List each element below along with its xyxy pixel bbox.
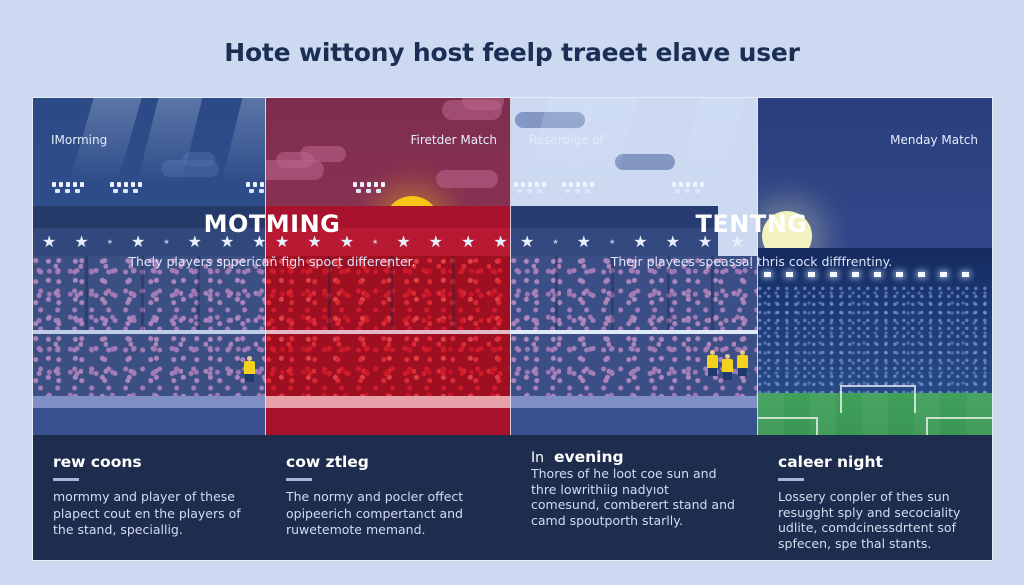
panel-afternoon[interactable]: ★ ★ ★ ★ ★ ★ ★ ★ ★ F — [266, 98, 511, 560]
floodlight-icon — [245, 182, 266, 195]
steward-figure — [707, 350, 718, 376]
star-icon: ★ — [220, 234, 234, 250]
star-icon: ★ — [493, 234, 507, 250]
stand-divider — [141, 256, 144, 330]
floodlight-icon — [513, 182, 547, 195]
star-icon: ★ — [163, 239, 169, 246]
panel-evening[interactable]: ★ ★ ★ ★ ★ ★ ★ ★ — [511, 98, 758, 560]
star-icon: ★ — [275, 234, 289, 250]
caption-evening: Inevening Thores of he loot coe sun and … — [511, 435, 758, 560]
star-icon: ★ — [577, 234, 591, 250]
cloud-icon — [615, 154, 675, 170]
page-title: Hote wittony host feelp traeet elave use… — [0, 38, 1024, 67]
pitch-apron — [511, 396, 758, 408]
floodlight-icon — [51, 182, 85, 195]
star-icon: ★ — [42, 234, 56, 250]
light-beam — [677, 98, 747, 188]
steward-figure — [722, 354, 733, 380]
floodlight-icon — [786, 272, 793, 277]
stand-divider — [667, 256, 670, 330]
star-icon: ★ — [74, 234, 88, 250]
star-icon: ★ — [698, 234, 712, 250]
crowd-texture — [266, 334, 511, 396]
floodlight-icon — [918, 272, 925, 277]
stand-divider — [611, 256, 614, 330]
caption-afternoon: cow ztleg The normy and pocler offect op… — [266, 435, 511, 560]
crowd-texture — [511, 334, 758, 396]
stand-divider — [328, 256, 331, 330]
stand-divider — [85, 256, 88, 330]
caption-title-text: evening — [554, 448, 624, 466]
floodlight-icon — [962, 272, 969, 277]
caption-rule — [53, 478, 79, 481]
caption-body: The normy and pocler offect opipeerich c… — [286, 489, 491, 539]
caption-body: Thores of he loot coe sun and thre lowri… — [531, 466, 738, 528]
caption-title: Inevening — [531, 448, 738, 466]
caption-morning: rew coons mormmy and player of these pla… — [33, 435, 266, 560]
light-beam — [221, 98, 266, 184]
poster-root: Hote wittony host feelp traeet elave use… — [0, 0, 1024, 585]
stand-lower-tier — [33, 334, 266, 396]
floodlight-icon — [561, 182, 595, 195]
star-icon: ★ — [730, 234, 744, 250]
pitch-apron — [266, 396, 511, 408]
stand-lower-tier — [266, 334, 511, 396]
cloud-icon — [436, 170, 498, 188]
star-band: ★ ★ ★ ★ ★ ★ ★ ★ ★ — [266, 228, 511, 256]
floodlight-icon — [874, 272, 881, 277]
crowd-texture — [511, 256, 758, 330]
floodlight-row — [758, 272, 992, 282]
stand-upper-tier — [33, 256, 266, 330]
star-icon: ★ — [252, 234, 266, 250]
panel-morning[interactable]: ★ ★ ★ ★ ★ ★ ★ ★ ★ — [33, 98, 266, 560]
stand-divider — [452, 256, 455, 330]
star-icon: ★ — [372, 239, 378, 246]
floodlight-icon — [808, 272, 815, 277]
floodlight-icon — [830, 272, 837, 277]
star-icon: ★ — [520, 234, 534, 250]
pitch-apron — [33, 396, 266, 408]
caption-title: rew coons — [53, 453, 246, 471]
stand-upper-tier — [511, 256, 758, 330]
star-band: ★ ★ ★ ★ ★ ★ ★ ★ ★ — [33, 228, 266, 256]
stand-lower-tier — [511, 334, 758, 396]
star-icon: ★ — [396, 234, 410, 250]
floodlight-icon — [109, 182, 143, 195]
stand-divider — [197, 256, 200, 330]
star-icon: ★ — [307, 234, 321, 250]
caption-title: cow ztleg — [286, 453, 491, 471]
goal-far — [840, 385, 916, 413]
crowd-texture — [33, 256, 266, 330]
caption-lead: In — [531, 450, 544, 466]
steward-figure — [244, 356, 255, 382]
floodlight-icon — [352, 182, 386, 195]
stand-divider — [555, 256, 558, 330]
panel-night[interactable]: Menday Match caleer night Lossery conple… — [758, 98, 992, 560]
star-icon: ★ — [461, 234, 475, 250]
caption-body: mormmy and player of these plapect cout … — [53, 489, 246, 539]
cloud-icon — [300, 146, 346, 162]
caption-rule — [778, 478, 804, 481]
star-icon: ★ — [633, 234, 647, 250]
cloud-icon — [462, 98, 504, 110]
stand-divider — [711, 256, 714, 330]
floodlight-icon — [896, 272, 903, 277]
floodlight-icon — [764, 272, 771, 277]
caption-night: caleer night Lossery conpler of thes sun… — [758, 435, 992, 560]
stand-upper-tier — [266, 256, 511, 330]
star-icon: ★ — [666, 234, 680, 250]
floodlight-icon — [671, 182, 705, 195]
star-icon: ★ — [107, 239, 113, 246]
caption-rule — [286, 478, 312, 481]
star-band: ★ ★ ★ ★ ★ ★ ★ ★ — [511, 228, 718, 256]
stadium-roof — [266, 206, 511, 228]
star-icon: ★ — [609, 239, 615, 246]
star-icon: ★ — [131, 234, 145, 250]
star-icon: ★ — [188, 234, 202, 250]
light-beam — [69, 98, 143, 184]
stand-divider — [390, 256, 393, 330]
crowd-texture — [266, 256, 511, 330]
steward-figure — [737, 350, 748, 376]
star-icon: ★ — [340, 234, 354, 250]
panels-frame: ★ ★ ★ ★ ★ ★ ★ ★ ★ — [33, 98, 992, 560]
stadium-roof — [33, 206, 266, 228]
caption-body: Lossery conpler of thes sun resugght spl… — [778, 489, 972, 551]
night-stands — [758, 248, 992, 398]
star-icon: ★ — [429, 234, 443, 250]
stadium-roof — [511, 206, 718, 228]
crowd-texture — [33, 334, 266, 396]
crowd-texture — [758, 286, 992, 398]
floodlight-icon — [852, 272, 859, 277]
star-icon: ★ — [552, 239, 558, 246]
floodlight-icon — [940, 272, 947, 277]
caption-title: caleer night — [778, 453, 972, 471]
